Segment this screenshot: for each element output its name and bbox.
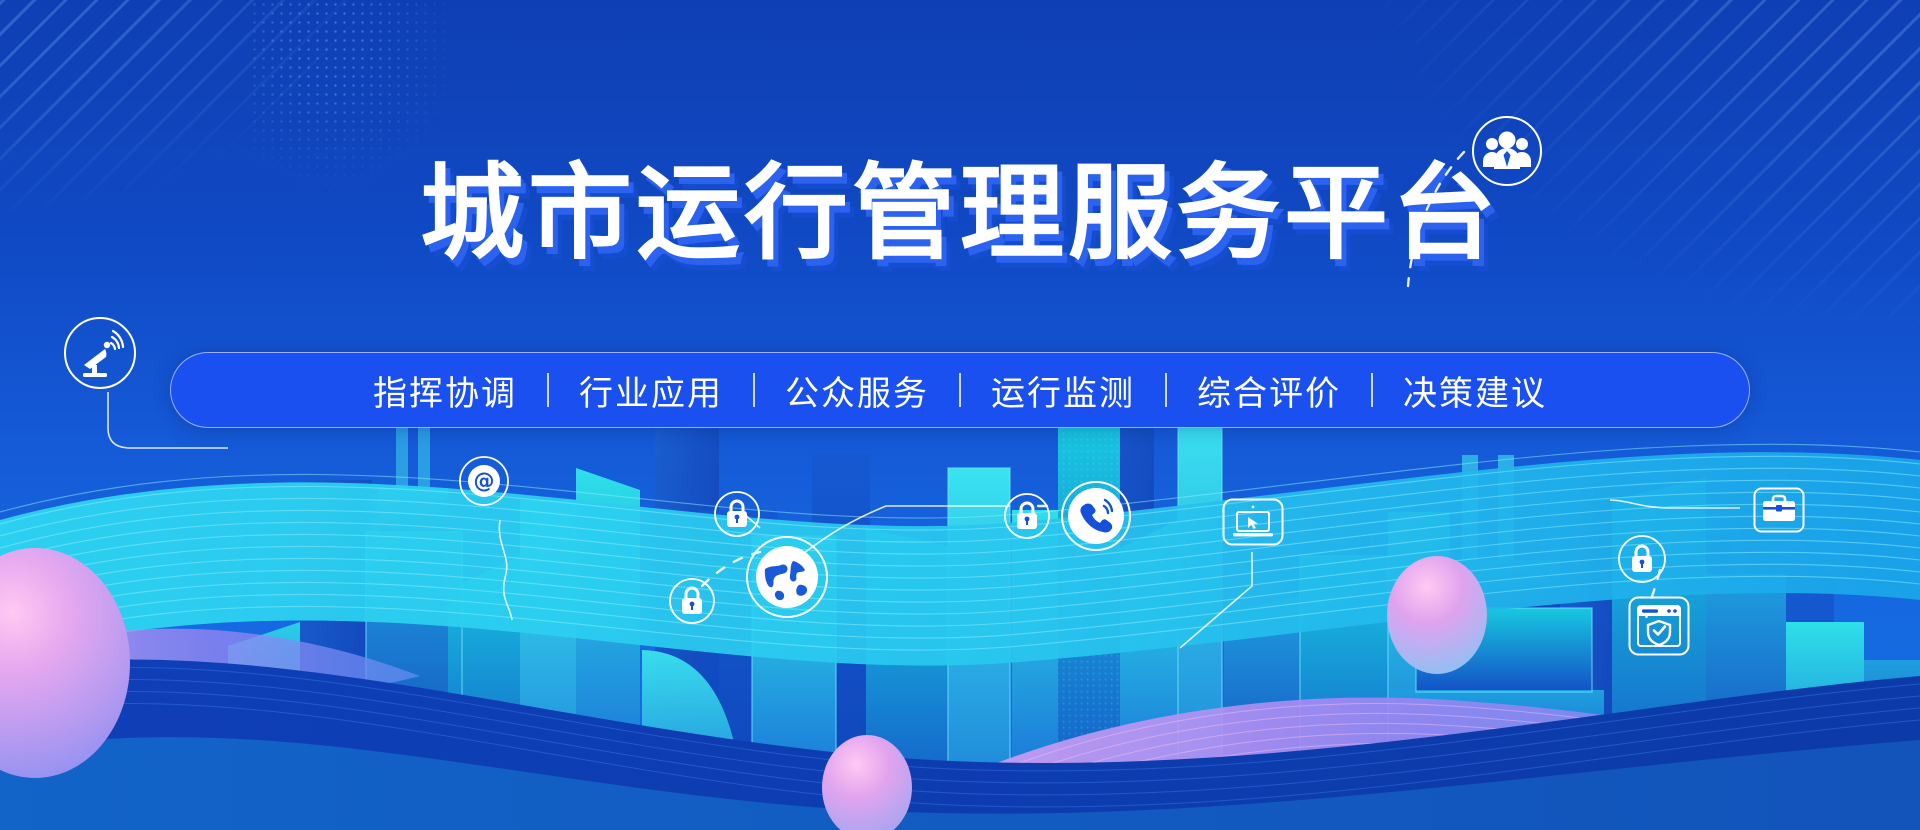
- satellite-dish-icon[interactable]: [62, 315, 138, 391]
- briefcase-icon[interactable]: [1753, 487, 1805, 533]
- phone-call-icon[interactable]: [1060, 480, 1132, 552]
- lock-icon-4[interactable]: [1617, 534, 1667, 584]
- lock-icon-1[interactable]: [713, 490, 761, 538]
- city-operations-banner: @: [0, 0, 1920, 830]
- globe-icon[interactable]: [745, 535, 829, 619]
- at-sign-icon[interactable]: @: [458, 455, 510, 507]
- lock-icon-3[interactable]: [1003, 492, 1051, 540]
- lock-icon-2[interactable]: [668, 577, 716, 625]
- people-group-icon[interactable]: [1471, 115, 1543, 187]
- laptop-cursor-icon[interactable]: [1222, 498, 1284, 546]
- connector-lines: [0, 0, 1920, 830]
- browser-shield-icon[interactable]: [1628, 596, 1690, 656]
- svg-text:@: @: [474, 469, 495, 493]
